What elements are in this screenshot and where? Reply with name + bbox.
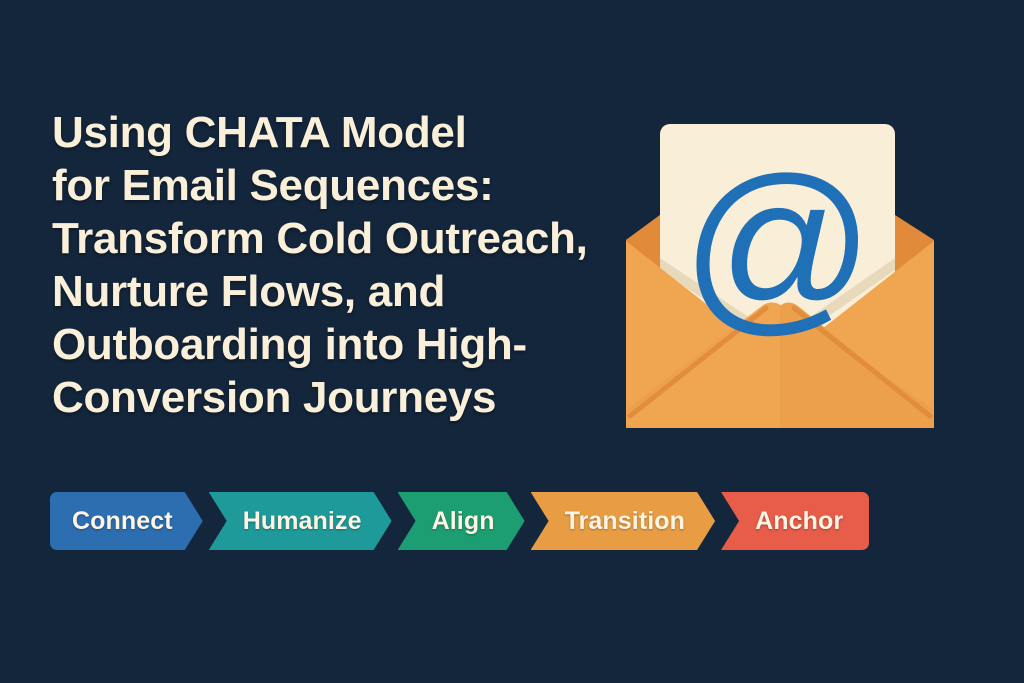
badge-transition-label: Transition — [565, 507, 685, 536]
svg-text:@: @ — [682, 139, 875, 351]
at-symbol: @ — [682, 139, 875, 351]
badge-humanize[interactable]: Humanize — [209, 492, 392, 550]
page-title: Using CHATA Model for Email Sequences: T… — [52, 106, 612, 424]
title-line-1: Using CHATA Model — [52, 106, 612, 159]
title-line-3: Transform Cold Outreach, — [52, 212, 612, 265]
badge-align-label: Align — [432, 507, 495, 536]
badge-humanize-label: Humanize — [243, 507, 362, 536]
title-line-4: Nurture Flows, and — [52, 265, 612, 318]
title-line-6: Conversion Journeys — [52, 371, 612, 424]
title-line-2: for Email Sequences: — [52, 159, 612, 212]
title-line-5: Outboarding into High- — [52, 318, 612, 371]
badge-anchor-label: Anchor — [755, 507, 843, 536]
chata-badge-row: Connect Humanize Align Transition Anchor — [50, 492, 875, 550]
badge-align[interactable]: Align — [398, 492, 525, 550]
badge-anchor[interactable]: Anchor — [721, 492, 869, 550]
badge-connect[interactable]: Connect — [50, 492, 203, 550]
badge-connect-label: Connect — [72, 507, 173, 536]
slide-canvas: Using CHATA Model for Email Sequences: T… — [0, 0, 1024, 683]
open-envelope-icon: @ — [610, 110, 950, 450]
badge-transition[interactable]: Transition — [531, 492, 715, 550]
